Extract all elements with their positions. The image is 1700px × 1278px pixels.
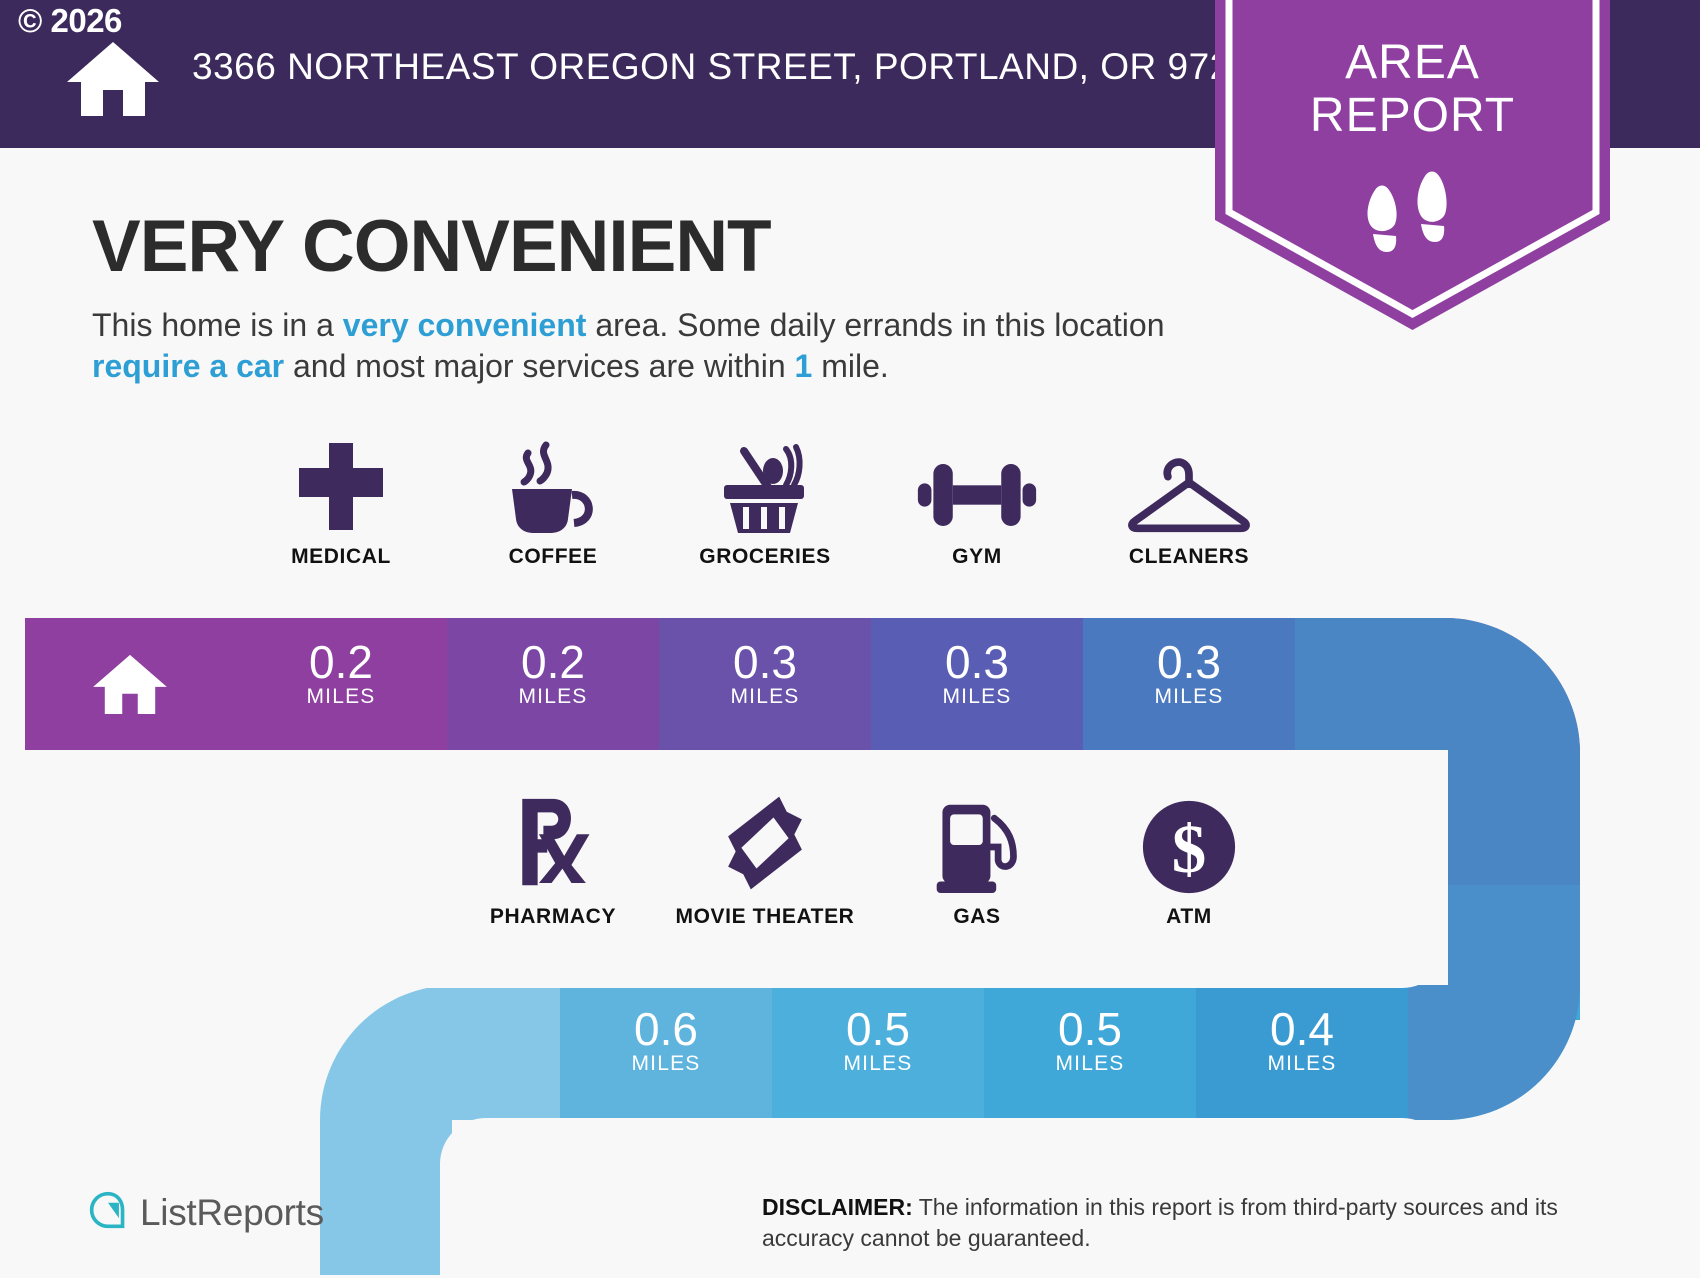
amenity-coffee[interactable]: COFFEE bbox=[447, 435, 659, 569]
disclaimer-text: DISCLAIMER: The information in this repo… bbox=[762, 1192, 1642, 1254]
house-icon bbox=[91, 652, 169, 716]
footprints-icon bbox=[1363, 168, 1463, 258]
movie-ticket-icon bbox=[659, 795, 871, 895]
coffee-cup-icon bbox=[447, 435, 659, 535]
amenity-label: GAS bbox=[871, 905, 1083, 929]
badge-line-2: REPORT bbox=[1215, 89, 1610, 142]
amenity-label: MOVIE THEATER bbox=[659, 905, 871, 929]
dollar-circle-icon: $ bbox=[1083, 795, 1295, 895]
amenity-groceries[interactable]: GROCERIES bbox=[659, 435, 871, 569]
amenity-label: COFFEE bbox=[447, 545, 659, 569]
grocery-basket-icon bbox=[659, 435, 871, 535]
listreports-wordmark: ListReports bbox=[140, 1192, 324, 1234]
dumbbell-icon bbox=[871, 435, 1083, 535]
hanger-icon bbox=[1083, 435, 1295, 535]
amenity-label: PHARMACY bbox=[447, 905, 659, 929]
listreports-logo[interactable]: ListReports bbox=[88, 1190, 324, 1235]
badge-line-1: AREA bbox=[1215, 36, 1610, 89]
rx-icon bbox=[447, 795, 659, 895]
amenity-pharmacy[interactable]: PHARMACY bbox=[447, 795, 659, 929]
amenity-label: MEDICAL bbox=[235, 545, 447, 569]
home-marker-cell bbox=[25, 618, 235, 750]
amenity-label: GYM bbox=[871, 545, 1083, 569]
amenity-label: ATM bbox=[1083, 905, 1295, 929]
badge-title: AREA REPORT bbox=[1215, 36, 1610, 142]
disclaimer-label: DISCLAIMER: bbox=[762, 1194, 913, 1220]
amenity-label: CLEANERS bbox=[1083, 545, 1295, 569]
amenity-movie-theater[interactable]: MOVIE THEATER bbox=[659, 795, 871, 929]
amenity-label: GROCERIES bbox=[659, 545, 871, 569]
amenity-gym[interactable]: GYM bbox=[871, 435, 1083, 569]
gas-pump-icon bbox=[871, 795, 1083, 895]
amenity-medical[interactable]: MEDICAL bbox=[235, 435, 447, 569]
listreports-pin-icon bbox=[88, 1190, 128, 1235]
amenity-gas[interactable]: GAS bbox=[871, 795, 1083, 929]
medical-cross-icon bbox=[235, 435, 447, 535]
svg-text:$: $ bbox=[1172, 810, 1207, 887]
area-report-badge: AREA REPORT bbox=[1215, 0, 1610, 340]
amenity-cleaners[interactable]: CLEANERS bbox=[1083, 435, 1295, 569]
amenity-atm[interactable]: $ ATM bbox=[1083, 795, 1295, 929]
